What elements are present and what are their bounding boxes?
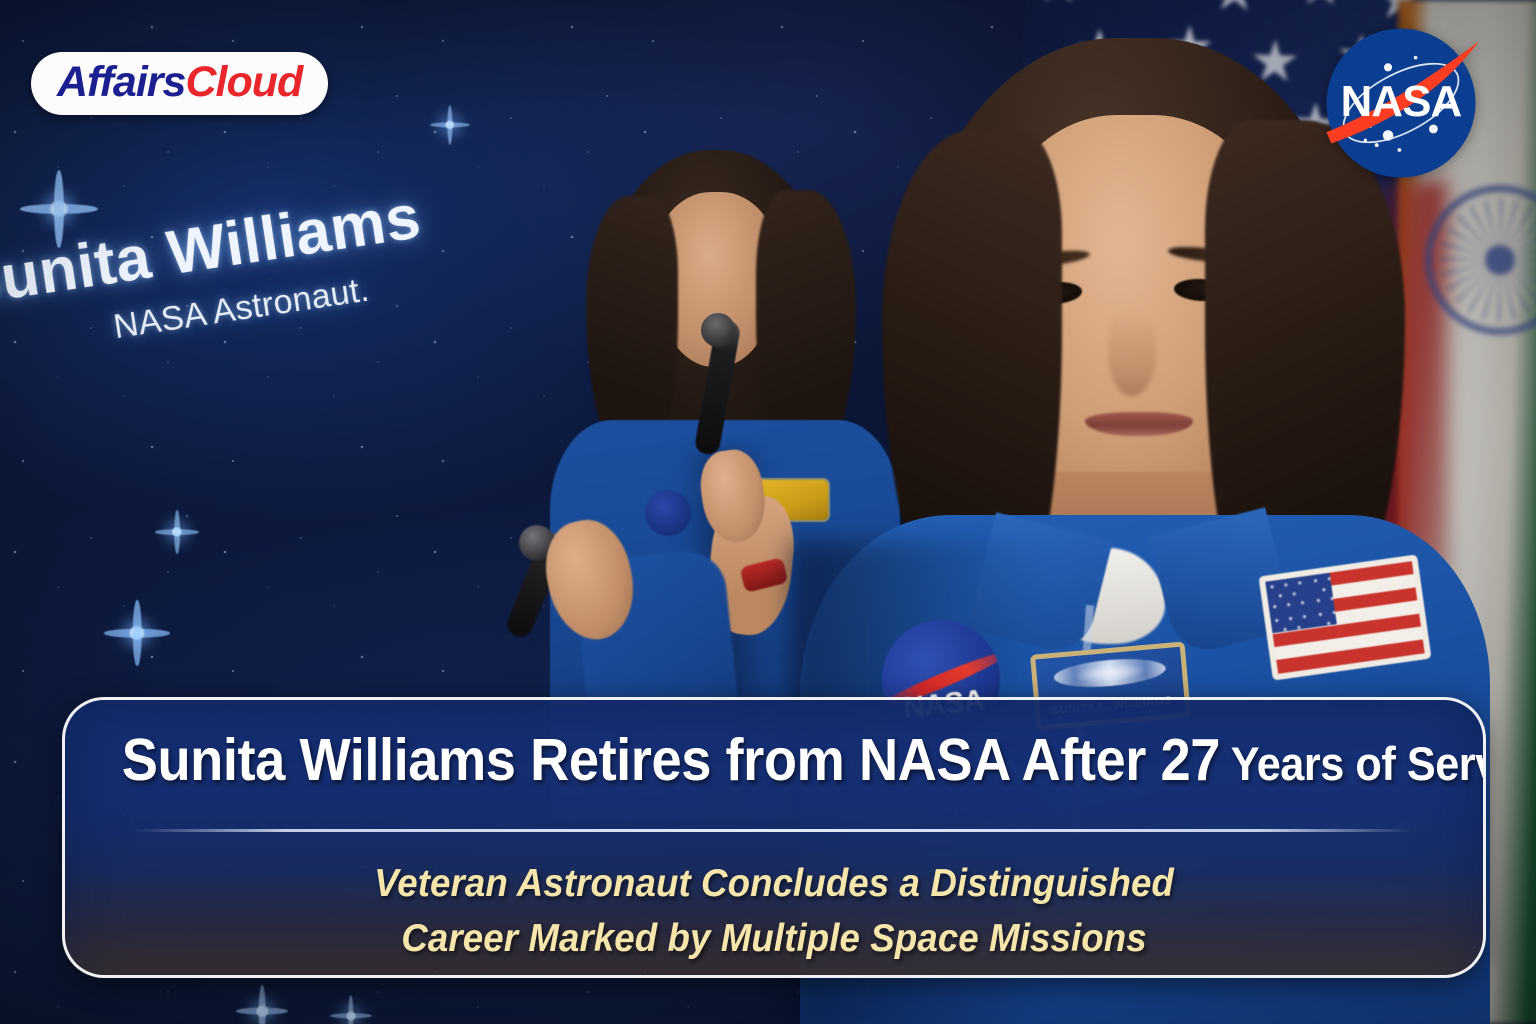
caption-divider: [135, 829, 1413, 832]
caption-subtitle: Veteran Astronaut Concludes a Distinguis…: [108, 856, 1441, 967]
caption-title-tail: Years of Service: [1220, 737, 1486, 790]
svg-text:NASA: NASA: [1341, 77, 1462, 126]
caption-panel: Sunita Williams Retires from NASA After …: [62, 697, 1486, 978]
caption-title-main: Sunita Williams Retires from NASA After …: [122, 727, 1220, 793]
astronaut-wings-icon: [1052, 655, 1166, 691]
caption-title: Sunita Williams Retires from NASA After …: [122, 730, 1427, 792]
caption-subtitle-line-1: Veteran Astronaut Concludes a Distinguis…: [108, 856, 1441, 911]
poster-canvas: Sunita Williams NASA Astronaut.: [0, 0, 1536, 1024]
nasa-patch-icon: [645, 490, 691, 536]
nasa-meatball-icon: NASA: [1320, 22, 1482, 184]
us-flag-patch-icon: [1258, 554, 1431, 680]
caption-subtitle-line-2: Career Marked by Multiple Space Missions: [108, 911, 1441, 966]
affairscloud-logo[interactable]: AffairsCloud: [31, 52, 328, 115]
logo-cloud-text: Cloud: [185, 61, 302, 104]
logo-affairs-text: Affairs: [57, 61, 185, 104]
